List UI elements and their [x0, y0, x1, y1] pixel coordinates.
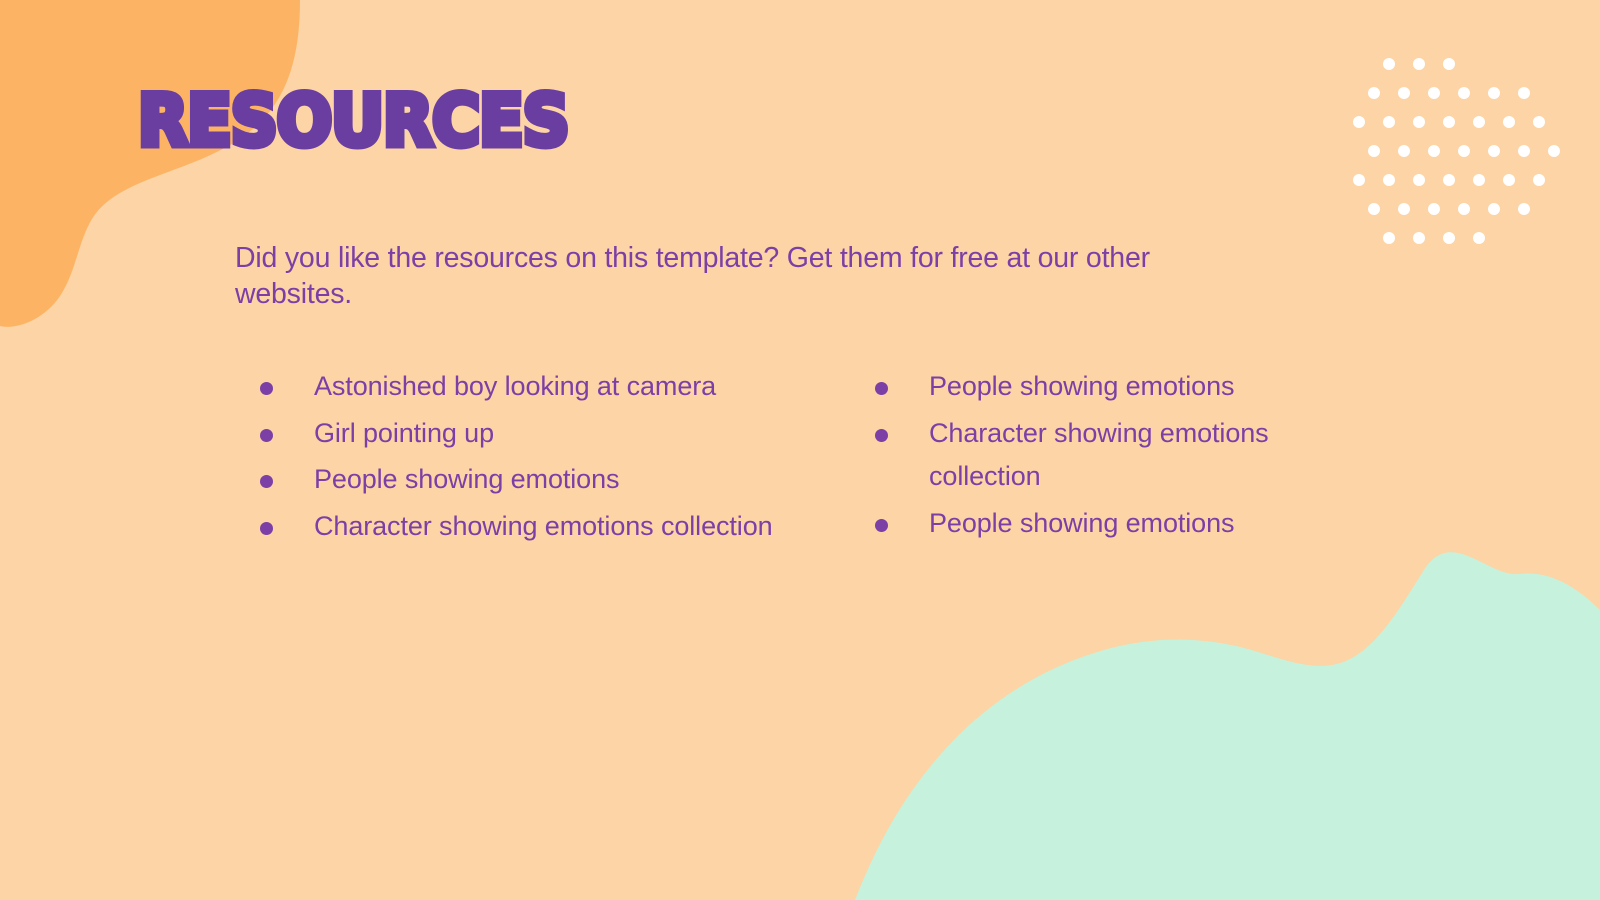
- list-item: People showing emotions: [850, 365, 1385, 409]
- slide: RESOURCES Did you like the resources on …: [0, 0, 1600, 900]
- mint-wave-shape: [855, 552, 1600, 900]
- resource-list-left: Astonished boy looking at camera Girl po…: [235, 365, 810, 549]
- resources-column-left: Astonished boy looking at camera Girl po…: [235, 365, 810, 552]
- bullet-dot-icon: [260, 382, 273, 395]
- list-item: People showing emotions: [235, 458, 810, 502]
- list-item-label: Astonished boy looking at camera: [314, 371, 716, 401]
- bullet-dot-icon: [260, 429, 273, 442]
- bullet-dot-icon: [260, 522, 273, 535]
- bullet-dot-icon: [260, 475, 273, 488]
- intro-paragraph: Did you like the resources on this templ…: [235, 241, 1245, 313]
- bullet-dot-icon: [875, 519, 888, 532]
- resources-columns: Astonished boy looking at camera Girl po…: [235, 365, 1385, 552]
- resource-list-right: People showing emotions Character showin…: [850, 365, 1385, 546]
- list-item: Character showing emotions collection: [235, 505, 810, 549]
- page-title: RESOURCES: [138, 86, 569, 156]
- white-dot-cluster: [1353, 58, 1560, 244]
- list-item: People showing emotions: [850, 502, 1385, 546]
- list-item-label: Character showing emotions collection: [314, 511, 773, 541]
- resources-column-right: People showing emotions Character showin…: [810, 365, 1385, 552]
- bullet-dot-icon: [875, 382, 888, 395]
- list-item-label: People showing emotions: [929, 508, 1234, 538]
- list-item: Girl pointing up: [235, 412, 810, 456]
- list-item-label: Character showing emotions collection: [929, 418, 1269, 492]
- bullet-dot-icon: [875, 429, 888, 442]
- list-item-label: People showing emotions: [929, 371, 1234, 401]
- list-item: Astonished boy looking at camera: [235, 365, 810, 409]
- list-item-label: Girl pointing up: [314, 418, 494, 448]
- list-item: Character showing emotions collection: [850, 412, 1385, 499]
- list-item-label: People showing emotions: [314, 464, 619, 494]
